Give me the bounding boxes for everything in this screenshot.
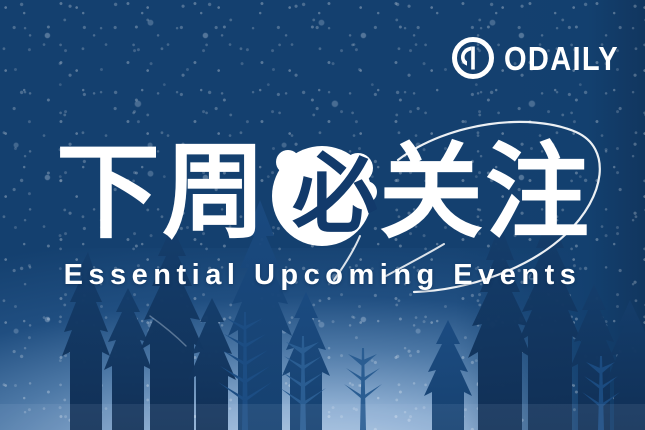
tree-bare-spruce-d <box>582 356 620 430</box>
headline-char-5: 注 <box>485 140 589 244</box>
tree-bare-spruce-a <box>218 312 272 430</box>
snow-streak-c-icon <box>150 316 186 346</box>
headline-chinese: 下 周 必 关 注 <box>0 140 645 244</box>
odaily-weekly-events-banner: ODAILY 下 周 必 关 注 Essential Upcoming Even… <box>0 0 645 430</box>
headline-char-1: 下 <box>56 140 160 244</box>
tree-cluster-left <box>62 226 236 430</box>
odaily-circle-p-icon <box>452 37 494 79</box>
tree-bare-spruce-c <box>344 348 382 430</box>
tree-bare-spruce-b <box>280 336 326 430</box>
odaily-logo[interactable]: ODAILY <box>452 37 635 79</box>
headline-char-2: 周 <box>162 140 266 244</box>
headline-char-4: 关 <box>379 140 483 244</box>
headline-char-3-highlight: 必 <box>266 140 378 244</box>
subtitle-english: Essential Upcoming Events <box>0 258 645 292</box>
headline-char-3: 必 <box>292 152 378 238</box>
odaily-wordmark: ODAILY <box>504 42 619 75</box>
tree-pine-right-center <box>424 320 472 430</box>
